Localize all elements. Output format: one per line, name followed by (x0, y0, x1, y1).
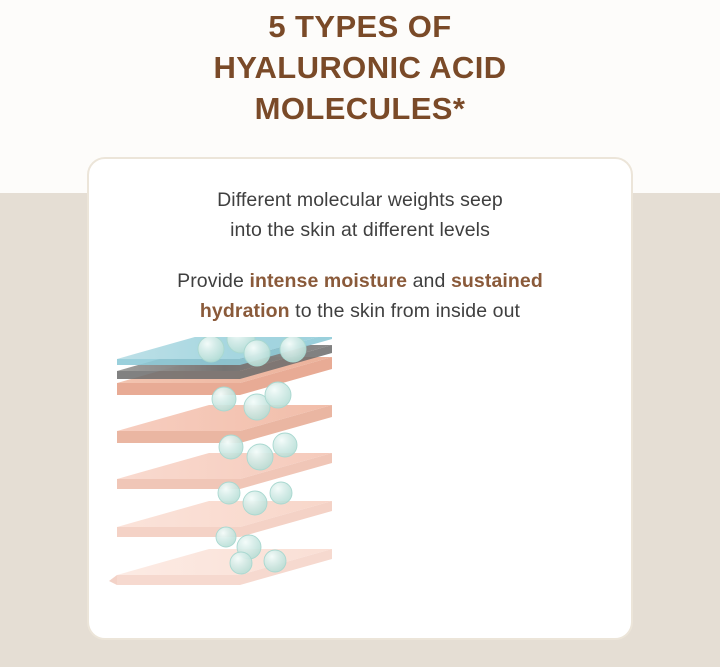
benefit-highlight-3: hydration (200, 300, 290, 322)
card-text-block: Different molecular weights seep into th… (89, 159, 631, 326)
paragraph-description: Different molecular weights seep into th… (89, 185, 631, 245)
benefit-prefix: Provide (177, 270, 249, 292)
benefit-highlight-2: sustained (451, 270, 543, 292)
bubble (244, 340, 270, 366)
benefit-suffix: to the skin from inside out (290, 300, 520, 322)
page-title: 5 TYPES OF HYALURONIC ACID MOLECULES* (0, 0, 720, 129)
bubble (198, 337, 224, 362)
bubble (273, 433, 297, 457)
bubble (218, 482, 240, 504)
description-line-1: Different molecular weights seep (89, 185, 631, 215)
skin-layer-5 (109, 549, 332, 585)
bubble (230, 552, 252, 574)
description-line-2: into the skin at different levels (89, 215, 631, 245)
bubble (280, 337, 306, 362)
skin-layers-diagram (89, 337, 633, 637)
bubble (247, 444, 273, 470)
title-line-3: MOLECULES* (0, 88, 720, 129)
skin-layers-svg (89, 337, 633, 637)
title-line-1: 5 TYPES OF (0, 6, 720, 47)
bubble (219, 435, 243, 459)
bubble (243, 491, 267, 515)
paragraph-benefit: Provide intense moisture and sustained h… (89, 266, 631, 326)
benefit-line-1: Provide intense moisture and sustained (89, 266, 631, 296)
info-card: Different molecular weights seep into th… (87, 157, 633, 640)
benefit-highlight-1: intense moisture (249, 270, 407, 292)
benefit-mid: and (407, 270, 451, 292)
bubble (212, 387, 236, 411)
bubble (264, 550, 286, 572)
bubble (270, 482, 292, 504)
bubble (216, 527, 236, 547)
bubble (265, 382, 291, 408)
title-line-2: HYALURONIC ACID (0, 47, 720, 88)
benefit-line-2: hydration to the skin from inside out (89, 296, 631, 326)
